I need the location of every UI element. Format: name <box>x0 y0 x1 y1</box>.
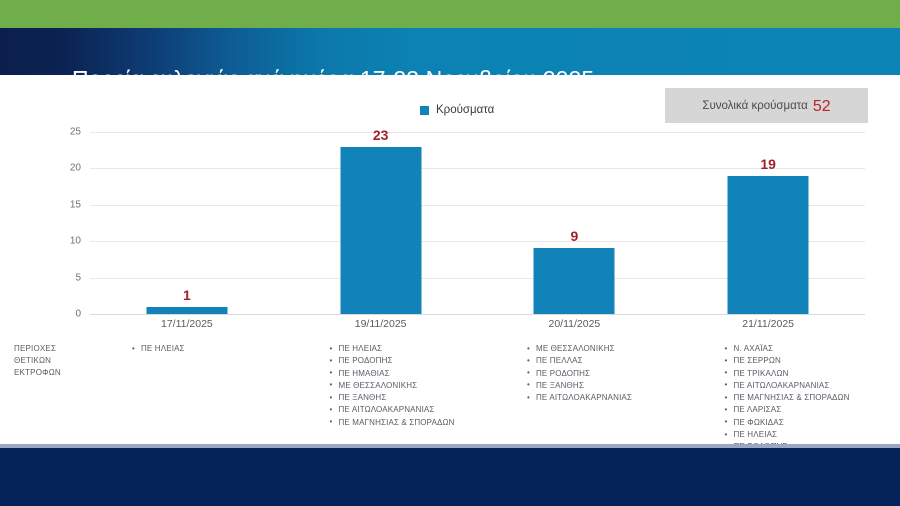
region-list-item: ΠΕ ΗΛΕΙΑΣ <box>132 343 288 355</box>
bar-slot: 19 <box>671 132 865 314</box>
region-list-item: ΠΕ ΗΛΕΙΑΣ <box>725 429 881 441</box>
x-axis-tick-label: 21/11/2025 <box>671 318 865 330</box>
bar-slot: 23 <box>284 132 478 314</box>
legend-swatch-icon <box>420 106 429 115</box>
y-axis-tick-label: 25 <box>70 127 81 138</box>
region-list-item: ΠΕ ΤΡΙΚΑΛΩΝ <box>725 368 881 380</box>
chart-panel: Κρούσματα Συνολικά κρούσματα 52 05101520… <box>0 75 900 444</box>
chart-bars: 123919 <box>90 132 865 314</box>
x-axis-tick-label: 17/11/2025 <box>90 318 284 330</box>
chart-legend: Κρούσματα <box>420 104 494 116</box>
region-list-item: ΠΕ ΗΜΑΘΙΑΣ <box>330 368 486 380</box>
bar-value-label: 9 <box>570 228 578 244</box>
region-column: ΜΕ ΘΕΣΣΑΛΟΝΙΚΗΣΠΕ ΠΕΛΛΑΣΠΕ ΡΟΔΟΠΗΣΠΕ ΞΑΝ… <box>485 343 683 454</box>
region-list-item: ΜΕ ΘΕΣΣΑΛΟΝΙΚΗΣ <box>527 343 683 355</box>
bar-slot: 1 <box>90 132 284 314</box>
region-list-item: ΠΕ ΣΕΡΡΩΝ <box>725 355 881 367</box>
bar-value-label: 19 <box>760 156 776 172</box>
footer: ΕΛΛΗΝΙΚΗ ΔΗΜΟΚΡΑΤΙΑ Υπουργείο Αγροτικής … <box>0 448 900 506</box>
x-axis-tick-label: 20/11/2025 <box>478 318 672 330</box>
slide-root: Πορεία ευλογιάς ανά ημέρα 17-23 Νοεμβρίο… <box>0 0 900 506</box>
region-list-item: ΠΕ ΡΟΔΟΠΗΣ <box>527 368 683 380</box>
region-column: ΠΕ ΗΛΕΙΑΣΠΕ ΡΟΔΟΠΗΣΠΕ ΗΜΑΘΙΑΣΜΕ ΘΕΣΣΑΛΟΝ… <box>288 343 486 454</box>
y-axis-tick-label: 5 <box>75 272 81 283</box>
bar-slot: 9 <box>478 132 672 314</box>
chart-plot-area: 0510152025 123919 <box>90 132 865 314</box>
region-list-item: ΠΕ ΜΑΓΝΗΣΙΑΣ & ΣΠΟΡΑΔΩΝ <box>725 392 881 404</box>
y-axis-tick-label: 10 <box>70 236 81 247</box>
gridline: 0 <box>90 314 865 315</box>
regions-heading: ΠΕΡΙΟΧΕΣ ΘΕΤΙΚΩΝ ΕΚΤΡΟΦΩΝ <box>14 343 94 379</box>
region-list-item: ΠΕ ΦΩΚΙΔΑΣ <box>725 417 881 429</box>
region-list-item: ΠΕ ΠΕΛΛΑΣ <box>527 355 683 367</box>
bar[interactable] <box>728 176 809 314</box>
region-list-item: Ν. ΑΧΑΪΑΣ <box>725 343 881 355</box>
chart-x-axis-labels: 17/11/202519/11/202520/11/202521/11/2025 <box>90 318 865 330</box>
y-axis-tick-label: 15 <box>70 199 81 210</box>
region-list-item: ΠΕ ΑΙΤΩΛΟΑΚΑΡΝΑΝΙΑΣ <box>725 380 881 392</box>
region-list-item: ΠΕ ΑΙΤΩΛΟΑΚΑΡΝΑΝΙΑΣ <box>330 404 486 416</box>
total-cases-label: Συνολικά κρούσματα <box>702 100 807 112</box>
bar[interactable] <box>146 307 227 314</box>
region-list-item: ΠΕ ΞΑΝΘΗΣ <box>527 380 683 392</box>
region-list-item: ΠΕ ΞΑΝΘΗΣ <box>330 392 486 404</box>
region-list-item: ΠΕ ΛΑΡΙΣΑΣ <box>725 404 881 416</box>
total-cases-value: 52 <box>813 98 831 116</box>
region-column: Ν. ΑΧΑΪΑΣΠΕ ΣΕΡΡΩΝΠΕ ΤΡΙΚΑΛΩΝΠΕ ΑΙΤΩΛΟΑΚ… <box>683 343 881 454</box>
bar[interactable] <box>340 147 421 314</box>
region-list-item: ΠΕ ΜΑΓΝΗΣΙΑΣ & ΣΠΟΡΑΔΩΝ <box>330 417 486 429</box>
bar-value-label: 1 <box>183 287 191 303</box>
x-axis-tick-label: 19/11/2025 <box>284 318 478 330</box>
legend-series-label: Κρούσματα <box>436 104 494 116</box>
title-bar: Πορεία ευλογιάς ανά ημέρα 17-23 Νοεμβρίο… <box>0 28 900 75</box>
top-green-stripe <box>0 0 900 28</box>
region-list-item: ΠΕ ΑΙΤΩΛΟΑΚΑΡΝΑΝΙΑΣ <box>527 392 683 404</box>
bar-value-label: 23 <box>373 127 389 143</box>
bar[interactable] <box>534 248 615 314</box>
y-axis-tick-label: 0 <box>75 309 81 320</box>
region-list-item: ΜΕ ΘΕΣΣΑΛΟΝΙΚΗΣ <box>330 380 486 392</box>
region-list-item: ΠΕ ΗΛΕΙΑΣ <box>330 343 486 355</box>
region-list-item: ΠΕ ΡΟΔΟΠΗΣ <box>330 355 486 367</box>
total-cases-box: Συνολικά κρούσματα 52 <box>665 88 868 123</box>
region-column: ΠΕ ΗΛΕΙΑΣ <box>90 343 288 454</box>
y-axis-tick-label: 20 <box>70 163 81 174</box>
regions-columns: ΠΕ ΗΛΕΙΑΣΠΕ ΗΛΕΙΑΣΠΕ ΡΟΔΟΠΗΣΠΕ ΗΜΑΘΙΑΣΜΕ… <box>90 343 880 454</box>
